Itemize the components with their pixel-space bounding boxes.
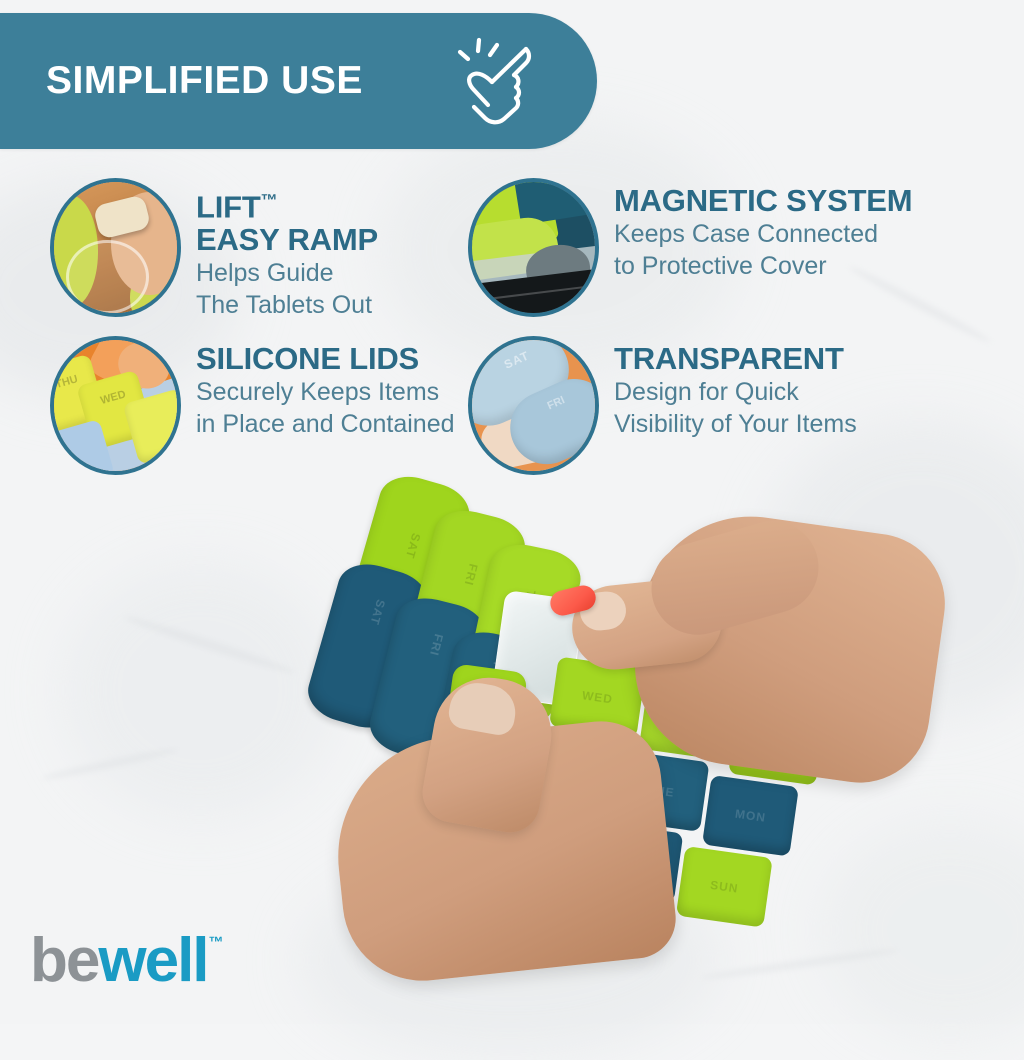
feature-sub-lift-2: The Tablets Out <box>196 291 378 320</box>
feature-text-transparent: TRANSPARENT Design for Quick Visibility … <box>614 336 857 439</box>
product-photo-hands-holding-pill-organizer: SAT SAT FRI FRI THU THU WED TUE MON WED … <box>250 470 890 940</box>
feature-title-lift: LIFT™ <box>196 184 378 223</box>
feature-thumbnail-lift-easy-ramp <box>50 178 181 317</box>
feature-lift-easy-ramp: LIFT™ EASY RAMP Helps Guide The Tablets … <box>50 178 378 320</box>
feature-thumbnail-silicone-lids: THU WED <box>50 336 181 475</box>
logo-be: be <box>30 930 98 992</box>
feature-thumbnail-magnetic-system <box>468 178 599 317</box>
feature-text-magnetic-system: MAGNETIC SYSTEM Keeps Case Connected to … <box>614 178 912 281</box>
feature-transparent: SAT FRI TRANSPARENT Design for Quick Vis… <box>468 336 857 475</box>
feature-sub-magnetic-1: Keeps Case Connected <box>614 220 912 249</box>
feature-text-silicone-lids: SILICONE LIDS Securely Keeps Items in Pl… <box>196 336 455 439</box>
feature-text-lift-easy-ramp: LIFT™ EASY RAMP Helps Guide The Tablets … <box>196 178 378 320</box>
header-banner: SIMPLIFIED USE <box>0 13 597 149</box>
feature-sub-silicone-2: in Place and Contained <box>196 410 455 439</box>
page-title: SIMPLIFIED USE <box>46 59 363 103</box>
feature-title-silicone-lids: SILICONE LIDS <box>196 342 455 375</box>
logo-well: well <box>98 930 207 992</box>
logo-trademark: ™ <box>209 934 224 951</box>
feature-sub-transparent-1: Design for Quick <box>614 378 857 407</box>
feature-title-easy-ramp: EASY RAMP <box>196 223 378 256</box>
brand-logo-bewell: be well ™ <box>30 930 224 992</box>
feature-sub-lift-1: Helps Guide <box>196 259 378 288</box>
feature-magnetic-system: MAGNETIC SYSTEM Keeps Case Connected to … <box>468 178 912 317</box>
feature-silicone-lids: THU WED SILICONE LIDS Securely Keeps Ite… <box>50 336 455 475</box>
snapping-fingers-icon <box>452 35 548 131</box>
feature-title-transparent: TRANSPARENT <box>614 342 857 375</box>
lid-mon-teal: MON <box>702 775 799 857</box>
feature-sub-silicone-1: Securely Keeps Items <box>196 378 455 407</box>
lid-sun-lime: SUN <box>676 846 773 928</box>
feature-sub-transparent-2: Visibility of Your Items <box>614 410 857 439</box>
feature-thumbnail-transparent: SAT FRI <box>468 336 599 475</box>
feature-title-magnetic-system: MAGNETIC SYSTEM <box>614 184 912 217</box>
feature-sub-magnetic-2: to Protective Cover <box>614 252 912 281</box>
